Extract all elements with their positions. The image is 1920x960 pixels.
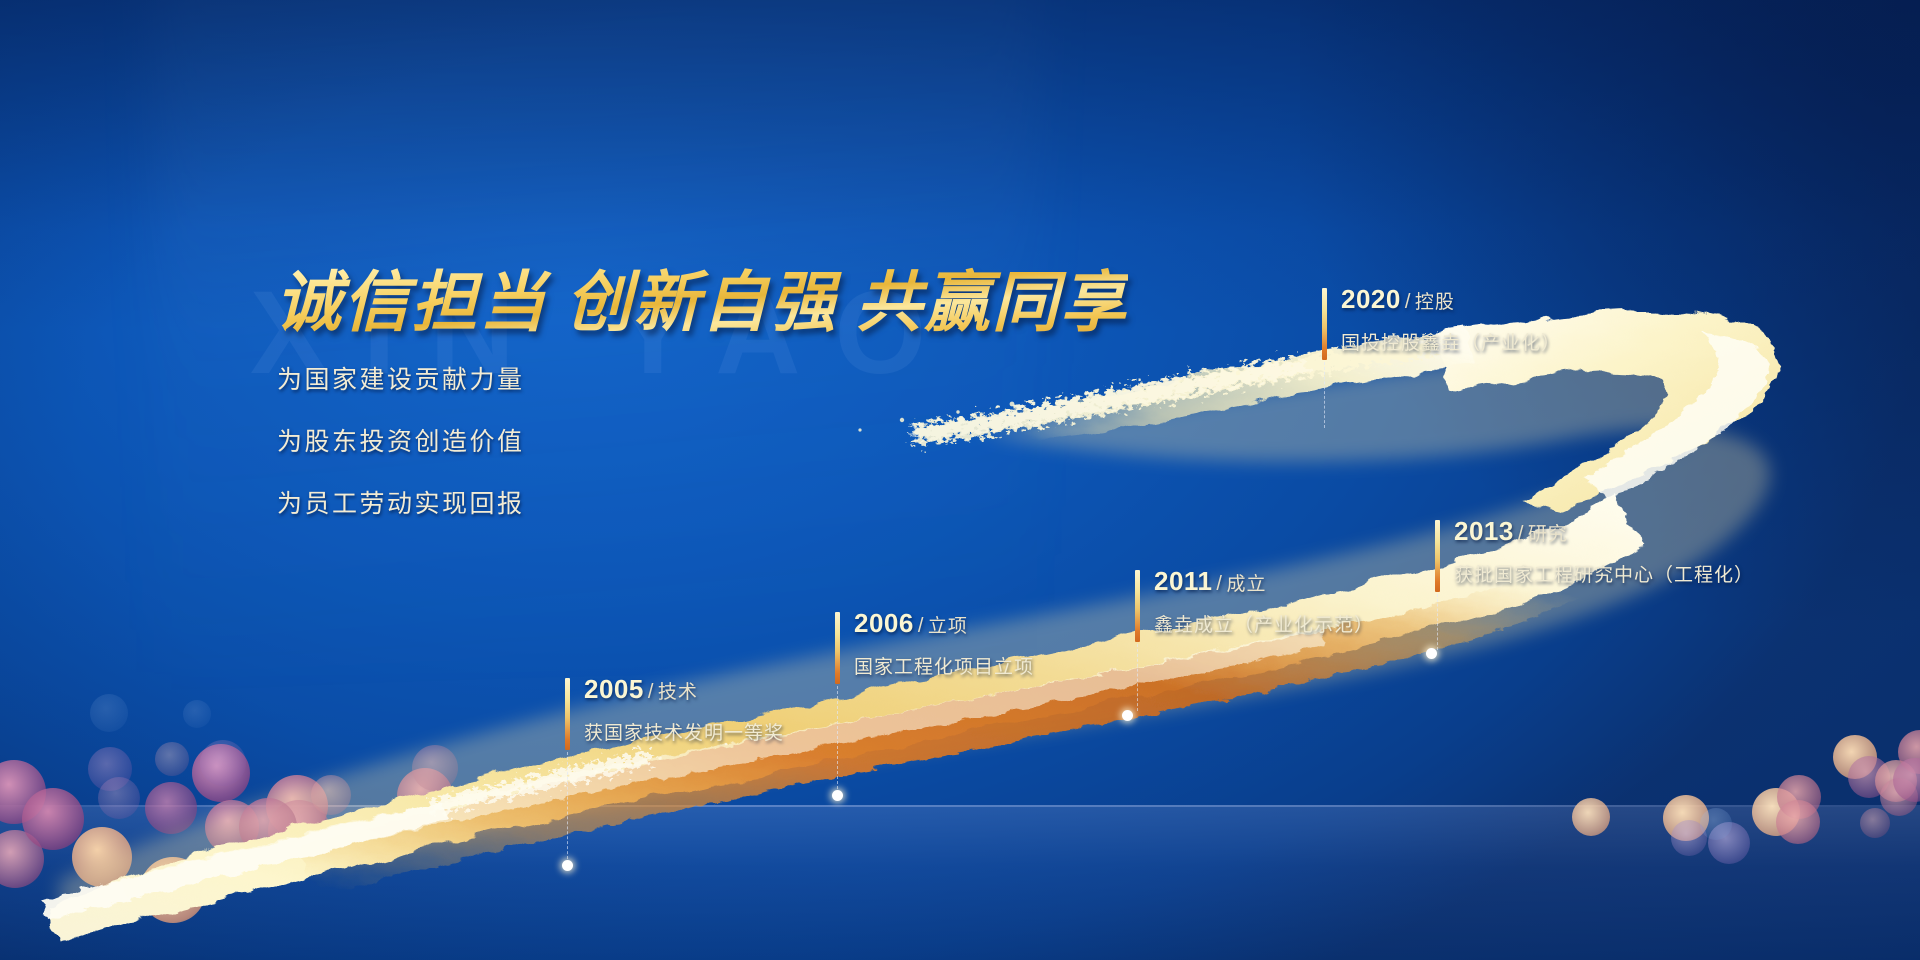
- timeline-year-value: 2013: [1454, 516, 1514, 546]
- timeline-category: 控股: [1415, 292, 1455, 313]
- timeline-description: 国家工程化项目立项: [854, 652, 1034, 679]
- timeline-connector-2005: [567, 752, 568, 864]
- slogan-line-2: 为股东投资创造价值: [277, 422, 525, 458]
- timeline-accent-bar: [1135, 570, 1140, 642]
- timeline-marker-dot-2006[interactable]: [832, 790, 843, 801]
- timeline-year-value: 2006: [854, 608, 914, 638]
- timeline-separator: /: [1216, 573, 1222, 595]
- page-title: 诚信担当 创新自强 共赢同享: [275, 249, 1128, 345]
- timeline-separator: /: [918, 615, 924, 637]
- timeline-category: 技术: [658, 682, 698, 703]
- timeline-category: 研究: [1528, 524, 1568, 545]
- timeline-year-label: 2011/成立: [1154, 566, 1266, 597]
- timeline-marker-dot-2005[interactable]: [562, 860, 573, 871]
- timeline-connector-2006: [837, 686, 838, 794]
- timeline-year-label: 2020/控股: [1341, 284, 1455, 315]
- timeline-connector-2013: [1437, 594, 1438, 650]
- timeline-separator: /: [648, 681, 654, 703]
- timeline-accent-bar: [835, 612, 840, 684]
- timeline-year-value: 2005: [584, 674, 644, 704]
- timeline-year-value: 2020: [1341, 284, 1401, 314]
- timeline-accent-bar: [1435, 520, 1440, 592]
- timeline-marker-dot-2013[interactable]: [1426, 648, 1437, 659]
- timeline-accent-bar: [565, 678, 570, 750]
- timeline-year-value: 2011: [1154, 566, 1212, 596]
- timeline-marker-dot-2011[interactable]: [1122, 710, 1133, 721]
- timeline-category: 立项: [928, 616, 968, 637]
- timeline-category: 成立: [1226, 574, 1266, 595]
- timeline-description: 获国家技术发明一等奖: [584, 718, 784, 745]
- timeline-connector-2020: [1324, 362, 1325, 428]
- timeline-description: 鑫垚成立（产业化示范）: [1154, 610, 1374, 637]
- timeline-accent-bar: [1322, 288, 1327, 360]
- slogan-line-3: 为员工劳动实现回报: [277, 484, 525, 520]
- slogan-line-1: 为国家建设贡献力量: [277, 360, 525, 396]
- timeline-description: 国投控股鑫垚（产业化）: [1341, 328, 1561, 355]
- gold-brush-swoosh: [0, 0, 1920, 960]
- timeline-separator: /: [1518, 523, 1524, 545]
- timeline-year-label: 2006/立项: [854, 608, 968, 639]
- timeline-year-label: 2005/技术: [584, 674, 698, 705]
- timeline-connector-2011: [1137, 644, 1138, 711]
- timeline-year-label: 2013/研究: [1454, 516, 1568, 547]
- timeline-description: 获批国家工程研究中心（工程化）: [1454, 560, 1754, 587]
- timeline-separator: /: [1405, 291, 1411, 313]
- banner-stage: XIN YAO 诚信担当 创新自强 共赢同享 为国家建设贡献力量 为股东投资创造…: [0, 0, 1920, 960]
